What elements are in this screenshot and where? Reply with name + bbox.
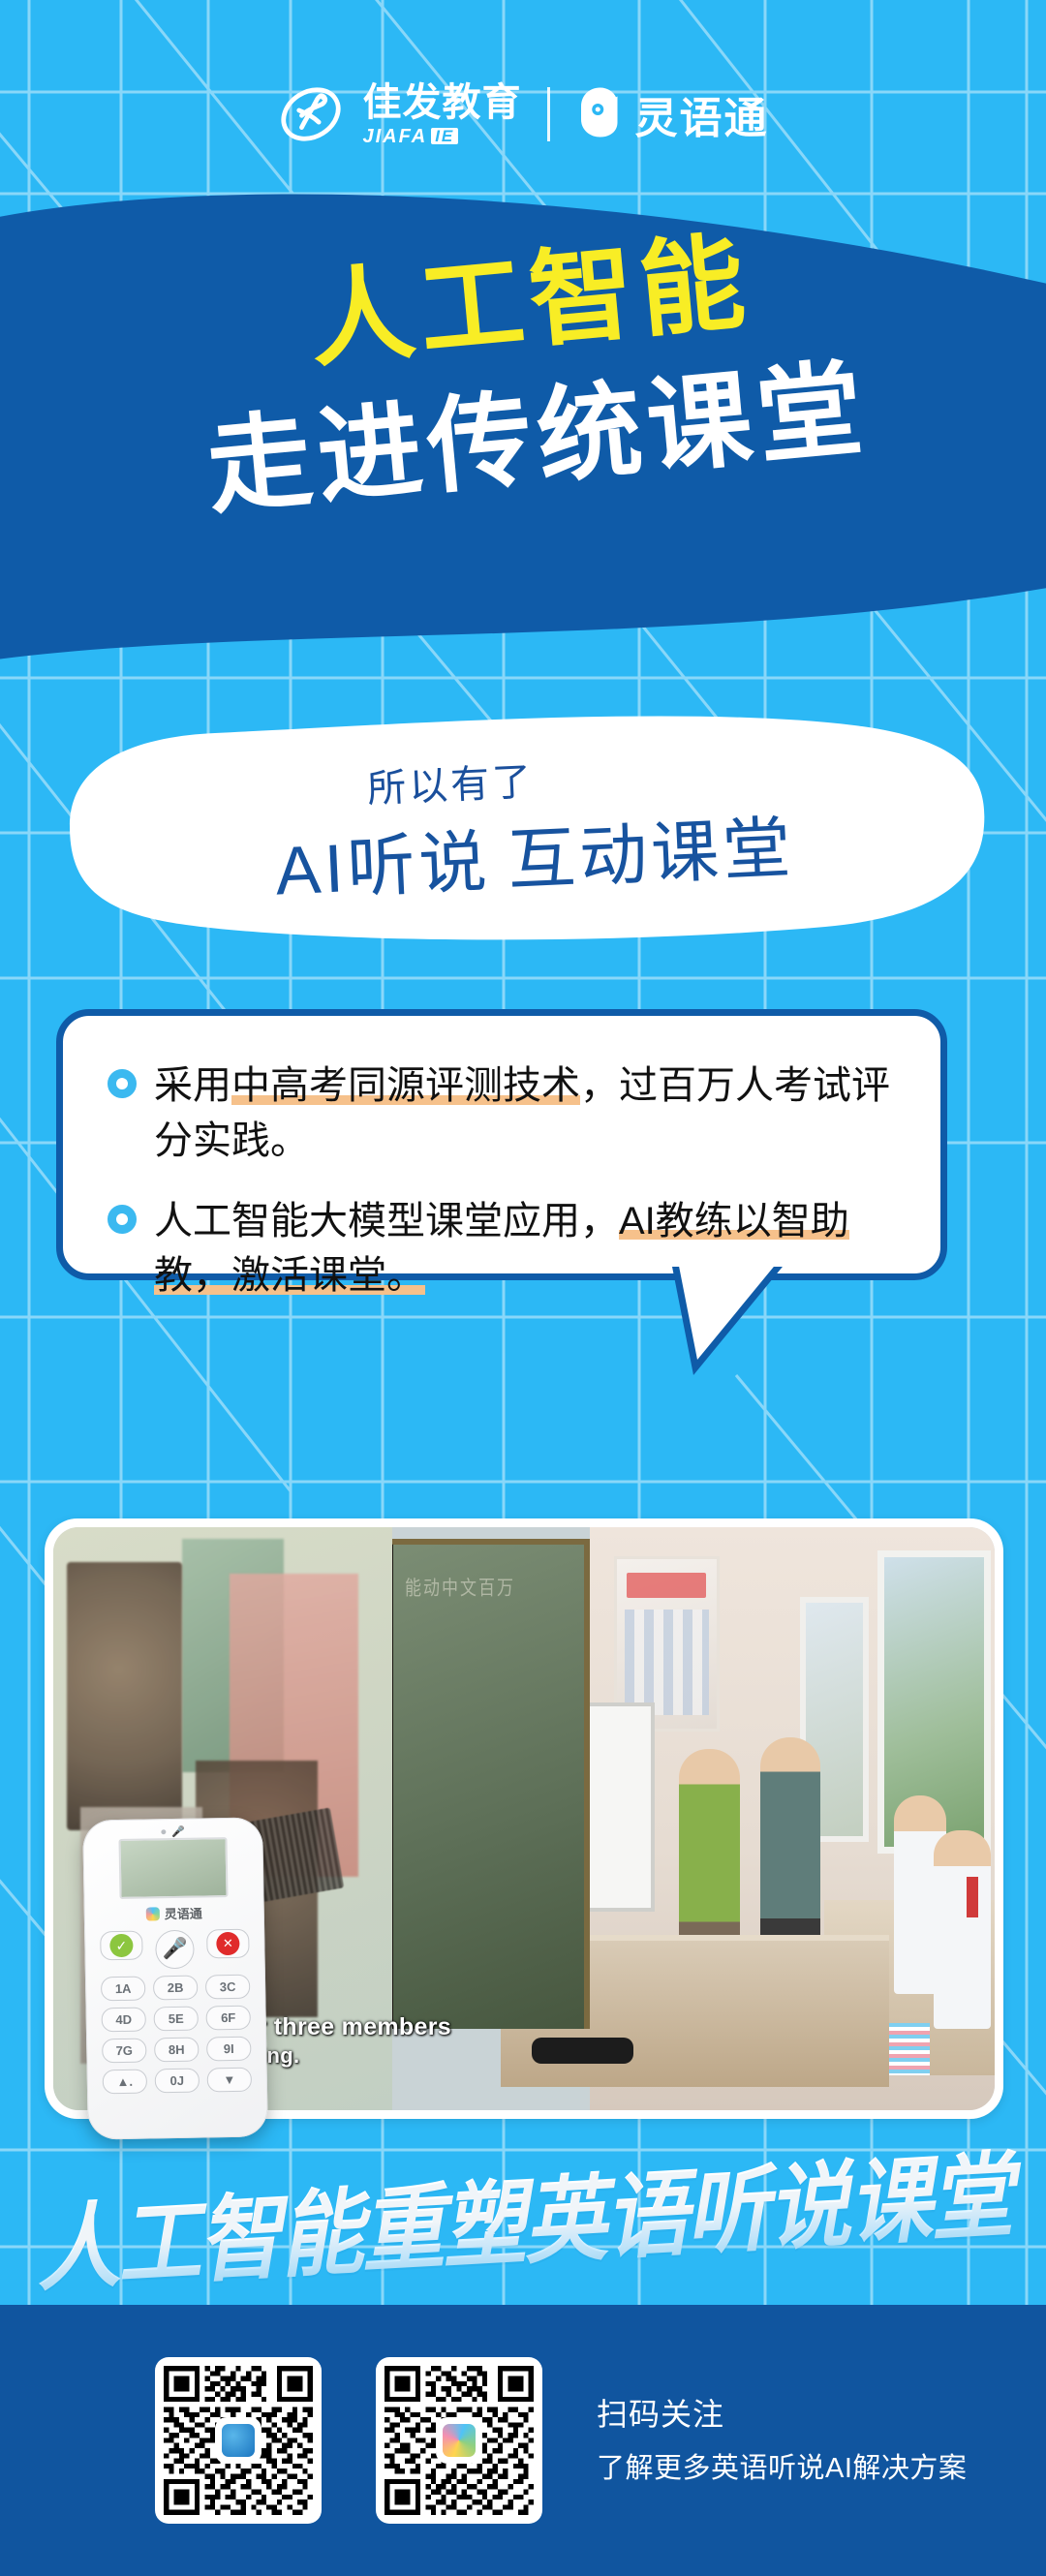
- device-action-row: ✓ 🎤 ✕: [100, 1929, 250, 1971]
- device-key-row: 4D 5E 6F: [102, 2006, 251, 2033]
- footer-bar: 扫码关注 了解更多英语听说AI解决方案: [0, 2305, 1046, 2576]
- device-key-up[interactable]: ▲.: [103, 2070, 147, 2095]
- photo-student-tie: [967, 1877, 979, 1917]
- clicker-device: 🎤 灵语通 ✓ 🎤 ✕ 1A 2B 3C: [82, 1817, 268, 2139]
- bottom-slogan: 人工智能重塑英语听说课堂: [0, 2117, 1046, 2311]
- jiafa-logo-icon: [218, 2420, 259, 2461]
- list-item: 采用中高考同源评测技术，过百万人考试评分实践。: [108, 1058, 896, 1169]
- device-screen: [118, 1837, 228, 1899]
- lingyutong-logo-icon: [575, 86, 622, 143]
- jiafa-logo-icon: [278, 81, 344, 147]
- device-key-down[interactable]: ▼: [207, 2068, 252, 2093]
- device-indicator-dot: [161, 1829, 166, 1834]
- photo-bag: [532, 2038, 632, 2064]
- device-brand: 灵语通: [84, 1902, 264, 1923]
- photo-person-student-2: [934, 1830, 991, 2029]
- device-cancel-button[interactable]: ✕: [206, 1929, 250, 1959]
- qr-lingyutong[interactable]: [376, 2357, 542, 2524]
- device-key-row: 1A 2B 3C: [101, 1975, 250, 2002]
- photo-blackboard: 能动中文百万: [383, 1539, 590, 2029]
- product-brand: 灵语通: [575, 83, 769, 145]
- banner-big-a: AI听说: [274, 824, 492, 909]
- device-mic-button[interactable]: 🎤: [155, 1930, 195, 1970]
- photo-room: [590, 1527, 995, 2110]
- footer-line-1: 扫码关注: [597, 2386, 967, 2443]
- device-key-1a[interactable]: 1A: [101, 1977, 145, 2002]
- device-key-2b[interactable]: 2B: [153, 1976, 198, 2001]
- device-key-7g[interactable]: 7G: [102, 2039, 146, 2064]
- device-key-4d[interactable]: 4D: [102, 2008, 146, 2033]
- close-icon: ✕: [216, 1932, 239, 1955]
- jiafa-wordmark: 佳发教育 JIAFA IE: [363, 83, 522, 146]
- device-key-3c[interactable]: 3C: [205, 1975, 250, 2000]
- company-en-text: JIAFA: [363, 127, 428, 146]
- banner-big-b: 互动课堂: [507, 810, 796, 898]
- photo-blackboard-text: 能动中文百万: [405, 1572, 515, 1601]
- device-key-0j[interactable]: 0J: [155, 2069, 200, 2094]
- bullet-dot-icon: [108, 1069, 137, 1098]
- bullet-0-pre: 采用: [154, 1064, 231, 1107]
- product-name-cn: 灵语通: [635, 83, 769, 145]
- bullet-0-highlight: 中高考同源评测技术: [231, 1064, 580, 1107]
- microphone-icon: 🎤: [162, 1938, 188, 1961]
- device-key-6f[interactable]: 6F: [206, 2006, 251, 2031]
- brand-divider: [547, 87, 550, 141]
- poster-root: 佳发教育 JIAFA IE 灵语通 人工智能 走进传统课堂: [0, 0, 1046, 2576]
- bullet-1-pre: 人工智能大模型课堂应用，: [154, 1200, 619, 1242]
- bullet-dot-icon: [108, 1205, 137, 1234]
- device-key-row: ▲. 0J ▼: [103, 2068, 252, 2095]
- qr-jiafa[interactable]: [155, 2357, 322, 2524]
- bullet-1-post: ，激活课堂。: [193, 1254, 425, 1297]
- device-key-9i[interactable]: 9I: [206, 2037, 251, 2062]
- microphone-icon: 🎤: [171, 1825, 185, 1838]
- device-keypad: ✓ 🎤 ✕ 1A 2B 3C 4D 5E 6F 7G 8: [84, 1928, 267, 2094]
- check-icon: ✓: [109, 1934, 133, 1957]
- footer-text: 扫码关注 了解更多英语听说AI解决方案: [597, 2386, 967, 2496]
- company-name-cn: 佳发教育: [363, 83, 522, 122]
- device-key-8h[interactable]: 8H: [154, 2038, 199, 2063]
- lingyutong-logo-icon: [146, 1907, 160, 1920]
- bullet-text: 采用中高考同源评测技术，过百万人考试评分实践。: [154, 1058, 896, 1169]
- lingyutong-logo-icon: [439, 2420, 479, 2461]
- device-brand-label: 灵语通: [165, 1904, 202, 1923]
- company-name-en: JIAFA IE: [363, 127, 522, 146]
- feature-card: 采用中高考同源评测技术，过百万人考试评分实践。 人工智能大模型课堂应用，AI教练…: [56, 1009, 947, 1280]
- device-key-row: 7G 8H 9I: [102, 2037, 251, 2064]
- device-confirm-button[interactable]: ✓: [100, 1931, 143, 1961]
- speech-bubble-tail: [668, 1259, 804, 1375]
- company-en-badge: IE: [431, 128, 458, 144]
- brand-header: 佳发教育 JIAFA IE 灵语通: [0, 81, 1046, 147]
- device-top-row: 🎤: [82, 1817, 262, 1837]
- device-key-5e[interactable]: 5E: [154, 2007, 199, 2032]
- footer-line-2: 了解更多英语听说AI解决方案: [597, 2443, 967, 2496]
